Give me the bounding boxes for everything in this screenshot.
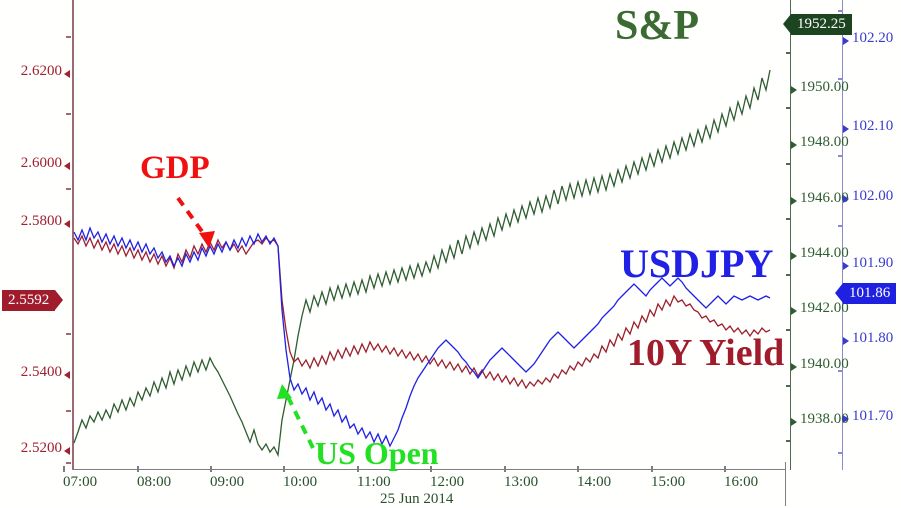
x-minor-tick-3 — [283, 466, 285, 472]
chart-root: S&P USDJPY 10Y Yield GDP US Open 2.6200 … — [0, 0, 901, 506]
plot-area — [72, 0, 772, 470]
left-tick-mark-0 — [64, 70, 70, 78]
x-minor-tick-8 — [651, 466, 653, 472]
x-tick-label-4: 11:00 — [357, 474, 391, 491]
label-sp: S&P — [615, 2, 699, 50]
fx-minor-tick-4 — [838, 370, 843, 372]
left-tick-label-0: 2.6200 — [6, 63, 62, 80]
sp-minor-tick-2 — [786, 163, 791, 165]
left-tick-label-4: 2.5200 — [6, 440, 62, 457]
x-minor-tick-1 — [137, 466, 139, 472]
fx-tick-label-2: 102.00 — [852, 188, 893, 205]
left-minor-tick-4 — [66, 410, 71, 412]
label-us-open: US Open — [315, 435, 439, 472]
label-gdp: GDP — [140, 150, 210, 187]
fx-tick-label-1: 102.10 — [852, 118, 893, 135]
fx-minor-tick-1 — [838, 78, 843, 80]
fx-tick-mark-5 — [843, 415, 849, 423]
x-axis-date-label: 25 Jun 2014 — [380, 491, 453, 508]
sp-tick-mark-7 — [791, 418, 797, 426]
x-tick-label-8: 15:00 — [651, 474, 685, 491]
sp-tick-label-4: 1944.00 — [800, 245, 849, 262]
fx-value-badge: 101.86 — [843, 283, 896, 304]
left-tick-label-3: 2.5400 — [6, 364, 62, 381]
sp-minor-tick-5 — [786, 329, 791, 331]
sp-tick-label-3: 1946.00 — [800, 190, 849, 207]
sp-tick-label-1: 1950.00 — [800, 79, 849, 96]
fx-tick-mark-3 — [843, 262, 849, 270]
sp-axis-line — [790, 0, 791, 470]
fx-tick-mark-1 — [843, 125, 849, 133]
fx-tick-label-0: 102.20 — [852, 30, 893, 47]
sp-tick-mark-5 — [791, 307, 797, 315]
fx-tick-label-3: 101.90 — [852, 255, 893, 272]
sp-minor-tick-3 — [786, 218, 791, 220]
fx-tick-label-5: 101.70 — [852, 408, 893, 425]
left-minor-tick-5 — [66, 462, 71, 464]
series-svg — [72, 0, 772, 470]
sp-tick-mark-2 — [791, 141, 797, 149]
x-minor-tick-0 — [63, 466, 65, 472]
x-minor-tick-7 — [577, 466, 579, 472]
sp-minor-tick-0 — [786, 52, 791, 54]
label-10y-yield: 10Y Yield — [627, 331, 784, 375]
fx-tick-mark-4 — [843, 337, 849, 345]
fx-tick-label-4: 101.80 — [852, 330, 893, 347]
left-tick-label-2: 2.5800 — [6, 213, 62, 230]
x-minor-tick-6 — [504, 466, 506, 472]
fx-minor-tick-0 — [838, 10, 843, 12]
sp-minor-tick-6 — [786, 385, 791, 387]
sp-tick-mark-4 — [791, 252, 797, 260]
x-tick-label-0: 07:00 — [63, 474, 97, 491]
sp-value-badge: 1952.25 — [791, 14, 852, 35]
x-axis-end-tick — [785, 462, 786, 506]
x-tick-label-2: 09:00 — [210, 474, 244, 491]
x-tick-label-5: 12:00 — [430, 474, 464, 491]
fx-minor-tick-3 — [838, 225, 843, 227]
x-minor-tick-2 — [210, 466, 212, 472]
x-tick-label-3: 10:00 — [283, 474, 317, 491]
left-minor-tick-2 — [66, 188, 71, 190]
fx-tick-mark-2 — [843, 195, 849, 203]
fx-tick-mark-0 — [843, 37, 849, 45]
sp-minor-tick-1 — [786, 107, 791, 109]
left-tick-label-1: 2.6000 — [6, 155, 62, 172]
sp-tick-mark-6 — [791, 363, 797, 371]
x-minor-tick-5 — [430, 466, 432, 472]
sp-tick-mark-1 — [791, 86, 797, 94]
x-minor-tick-4 — [357, 466, 359, 472]
left-tick-mark-1 — [64, 162, 70, 170]
label-usdjpy: USDJPY — [620, 240, 773, 287]
sp-minor-tick-7 — [786, 440, 791, 442]
x-tick-label-6: 13:00 — [504, 474, 538, 491]
left-tick-mark-4 — [64, 447, 70, 455]
yield-value-badge: 2.5592 — [2, 290, 55, 311]
x-tick-label-7: 14:00 — [577, 474, 611, 491]
left-tick-mark-3 — [64, 371, 70, 379]
fx-minor-tick-5 — [838, 452, 843, 454]
left-tick-mark-2 — [64, 220, 70, 228]
left-minor-tick-3 — [66, 333, 71, 335]
x-minor-tick-9 — [724, 466, 726, 472]
x-tick-label-9: 16:00 — [724, 474, 758, 491]
x-tick-label-1: 08:00 — [137, 474, 171, 491]
sp-minor-tick-4 — [786, 274, 791, 276]
sp-tick-mark-3 — [791, 197, 797, 205]
sp-tick-label-7: 1938.00 — [800, 411, 849, 428]
fx-minor-tick-2 — [838, 155, 843, 157]
left-minor-tick-0 — [66, 36, 71, 38]
sp-tick-label-2: 1948.00 — [800, 134, 849, 151]
left-minor-tick-1 — [66, 113, 71, 115]
usdjpy-axis-line — [842, 0, 843, 470]
